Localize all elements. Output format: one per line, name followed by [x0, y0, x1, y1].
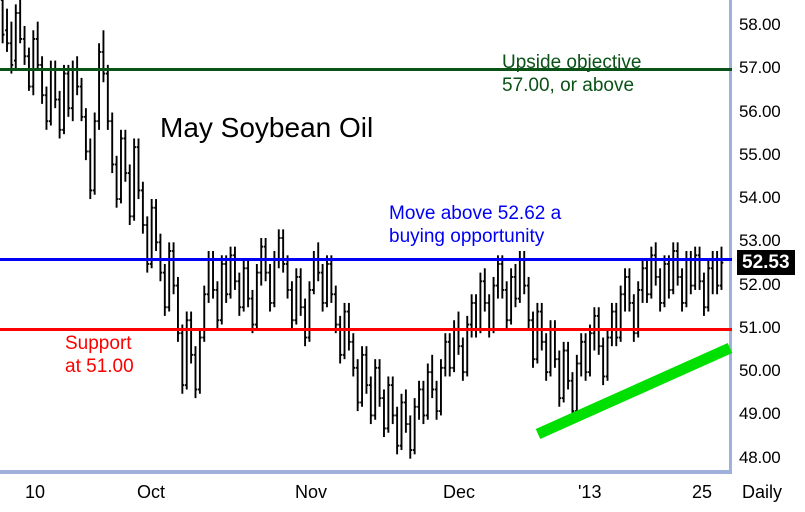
- price-tick-50-00: 50.00: [739, 361, 781, 381]
- price-tick-56-00: 56.00: [739, 102, 781, 122]
- annotation-support-line2: at 51.00: [65, 355, 134, 378]
- time-tick-nov: Nov: [295, 482, 327, 503]
- last-price-badge: 52.53: [737, 250, 795, 275]
- interval-label: Daily: [742, 482, 782, 503]
- annotation-buy-line1: Move above 52.62 a: [389, 202, 561, 225]
- price-tick-55-00: 55.00: [739, 145, 781, 165]
- chart-title: May Soybean Oil: [160, 112, 373, 144]
- price-tick-54-00: 54.00: [739, 188, 781, 208]
- annotation-upside-line1: Upside objective: [502, 51, 641, 74]
- reference-line-support: [0, 328, 732, 331]
- time-tick-13: '13: [578, 482, 601, 503]
- time-scale[interactable]: Daily 10OctNovDec'1325: [0, 476, 805, 512]
- time-tick-25: 25: [692, 482, 712, 503]
- price-tick-51-00: 51.00: [739, 318, 781, 338]
- annotation-support-line1: Support: [65, 332, 134, 355]
- price-tick-48-00: 48.00: [739, 448, 781, 468]
- chart-screenshot: Upside objective 57.00, or above Move ab…: [0, 0, 805, 512]
- annotation-buy-line2: buying opportunity: [389, 225, 561, 248]
- price-tick-57-00: 57.00: [739, 58, 781, 78]
- time-tick-10: 10: [25, 482, 45, 503]
- annotation-support: Support at 51.00: [65, 332, 134, 378]
- price-tick-58-00: 58.00: [739, 15, 781, 35]
- plot-area[interactable]: Upside objective 57.00, or above Move ab…: [0, 0, 732, 476]
- price-scale[interactable]: 58.0057.0056.0055.0054.0053.0052.0051.00…: [733, 0, 805, 476]
- annotation-upside-line2: 57.00, or above: [502, 74, 641, 97]
- price-tick-49-00: 49.00: [739, 404, 781, 424]
- price-tick-53-00: 53.00: [739, 231, 781, 251]
- annotation-buy-trigger: Move above 52.62 a buying opportunity: [389, 202, 561, 248]
- price-tick-52-00: 52.00: [739, 275, 781, 295]
- time-tick-dec: Dec: [443, 482, 475, 503]
- annotation-upside-objective: Upside objective 57.00, or above: [502, 51, 641, 97]
- reference-line-buy-trigger: [0, 258, 732, 261]
- time-tick-oct: Oct: [137, 482, 165, 503]
